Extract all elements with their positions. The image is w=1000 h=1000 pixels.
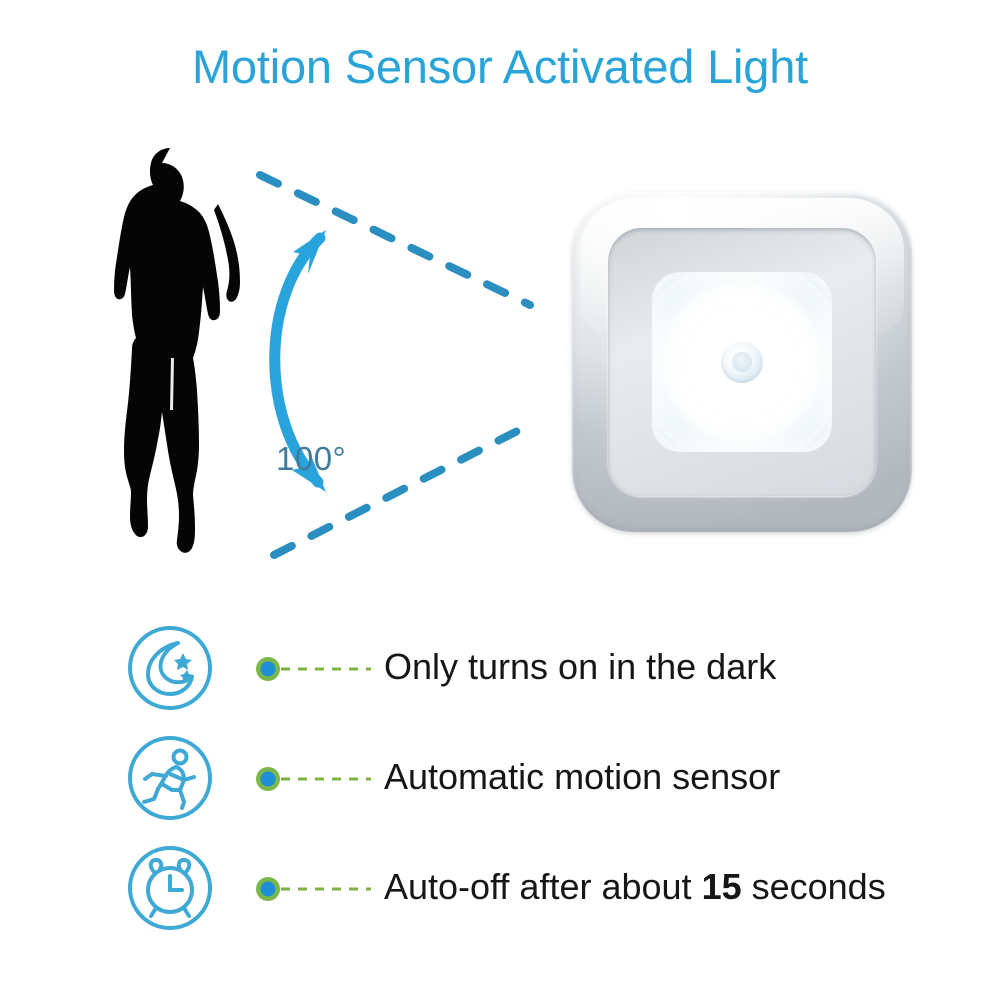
feature-connector — [255, 656, 373, 682]
moon-stars-icon — [126, 624, 214, 712]
feature-connector — [255, 876, 373, 902]
feature-label-duration: 15 — [702, 866, 742, 907]
detection-cone — [230, 130, 570, 580]
fixture-inner-ring — [608, 228, 876, 496]
feature-row: Auto-off after about 15 seconds — [0, 832, 1000, 942]
feature-row: Automatic motion sensor — [0, 722, 1000, 832]
feature-list: Only turns on in the dark Auto — [0, 612, 1000, 942]
pir-sensor-lens — [732, 352, 752, 372]
feature-label-text: Auto-off after about — [384, 866, 702, 907]
feature-label-text: Automatic motion sensor — [384, 756, 780, 797]
feature-label-text: Only turns on in the dark — [384, 646, 776, 687]
feature-row: Only turns on in the dark — [0, 612, 1000, 722]
led-motion-sensor-light — [572, 192, 912, 532]
feature-label-text-tail: seconds — [742, 866, 886, 907]
feature-label: Auto-off after about 15 seconds — [384, 864, 886, 910]
feature-label: Automatic motion sensor — [384, 754, 780, 800]
hero-diagram: 100° — [0, 120, 1000, 590]
running-person-icon — [126, 734, 214, 822]
page-title: Motion Sensor Activated Light — [0, 38, 1000, 96]
feature-connector — [255, 766, 373, 792]
angle-label: 100° — [276, 442, 346, 476]
alarm-clock-icon — [126, 844, 214, 932]
feature-label: Only turns on in the dark — [384, 644, 776, 690]
fixture-diffuser-panel — [652, 272, 832, 452]
pir-sensor-dome — [721, 341, 763, 383]
